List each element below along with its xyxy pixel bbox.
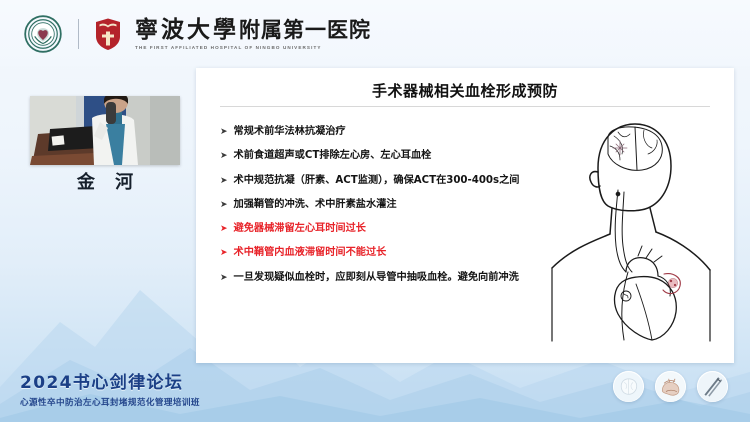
- bullet-marker-icon: ➤: [220, 272, 228, 285]
- list-item-emphasis: ➤ 避免器械滞留左心耳时间过长: [220, 223, 550, 236]
- instruments-glyph: [697, 371, 728, 402]
- list-item-emphasis: ➤ 术中鞘管内血液滞留时间不能过长: [220, 247, 550, 260]
- heart-anatomy-icon: [655, 371, 686, 402]
- university-name-cn: 寧波大學: [135, 16, 239, 43]
- anatomy-illustration: [538, 116, 728, 346]
- list-item: ➤ 常规术前华法林抗凝治疗: [220, 126, 550, 139]
- list-item: ➤ 术前食道超声或CT排除左心房、左心耳血栓: [220, 150, 550, 163]
- bullet-text: 避免器械滞留左心耳时间过长: [234, 223, 366, 236]
- list-item: ➤ 一旦发现疑似血栓时，应即刻从导管中抽吸血栓。避免向前冲洗: [220, 272, 550, 285]
- forum-subtitle: 心源性卒中防治左心耳封堵规范化管理培训班: [20, 396, 320, 408]
- hospital-logo-row: 寧波大學附属第一医院 THE FIRST AFFILIATED HOSPITAL…: [24, 14, 371, 54]
- hospital-name-en: THE FIRST AFFILIATED HOSPITAL OF NINGBO …: [135, 45, 371, 50]
- bullet-marker-icon: ➤: [220, 199, 228, 212]
- bullet-marker-icon: ➤: [220, 223, 228, 236]
- catheter-instruments-icon: [697, 371, 728, 402]
- list-item: ➤ 加强鞘管的冲洗、术中肝素盐水灌注: [220, 199, 550, 212]
- bullet-marker-icon: ➤: [220, 247, 228, 260]
- logo-divider: [78, 19, 79, 49]
- bullet-text: 术中规范抗凝（肝素、ACT监测），确保ACT在300-400s之间: [234, 175, 520, 188]
- speaker-video-thumbnail[interactable]: [30, 96, 180, 165]
- slide-screenshot: 寧波大學附属第一医院 THE FIRST AFFILIATED HOSPITAL…: [0, 0, 750, 422]
- forum-title: 2024书心剑律论坛: [20, 374, 320, 393]
- bullet-text: 加强鞘管的冲洗、术中肝素盐水灌注: [234, 199, 397, 212]
- speaker-name: 金 河: [30, 168, 180, 194]
- slide-title: 手术器械相关血栓形成预防: [196, 80, 734, 101]
- brain-icon: [613, 371, 644, 402]
- slide-content-card: 手术器械相关血栓形成预防 ➤ 常规术前华法林抗凝治疗 ➤ 术前食道超声或CT排除…: [196, 68, 734, 363]
- hospital-name-block: 寧波大學附属第一医院 THE FIRST AFFILIATED HOSPITAL…: [135, 18, 371, 50]
- footer-icon-group: [613, 371, 728, 402]
- bullet-marker-icon: ➤: [220, 150, 228, 163]
- university-shield-icon: [95, 17, 121, 51]
- footer-banner: 2024书心剑律论坛 心源性卒中防治左心耳封堵规范化管理培训班: [20, 374, 320, 408]
- title-divider: [220, 106, 710, 107]
- bullet-marker-icon: ➤: [220, 126, 228, 139]
- hospital-name-cn: 寧波大學附属第一医院: [135, 18, 371, 42]
- brain-glyph: [613, 371, 644, 402]
- affiliation-name-cn: 附属第一医院: [239, 17, 371, 42]
- bullet-list: ➤ 常规术前华法林抗凝治疗 ➤ 术前食道超声或CT排除左心房、左心耳血栓 ➤ 术…: [220, 126, 550, 296]
- speaker-photo-image: [30, 96, 180, 165]
- list-item: ➤ 术中规范抗凝（肝素、ACT监测），确保ACT在300-400s之间: [220, 175, 550, 188]
- bullet-text: 一旦发现疑似血栓时，应即刻从导管中抽吸血栓。避免向前冲洗: [234, 272, 519, 285]
- heart-glyph: [655, 371, 686, 402]
- bullet-marker-icon: ➤: [220, 175, 228, 188]
- bullet-text: 术前食道超声或CT排除左心房、左心耳血栓: [234, 150, 432, 163]
- hospital-seal-icon: [24, 15, 62, 53]
- bullet-text: 常规术前华法林抗凝治疗: [234, 126, 346, 139]
- bullet-text: 术中鞘管内血液滞留时间不能过长: [234, 247, 387, 260]
